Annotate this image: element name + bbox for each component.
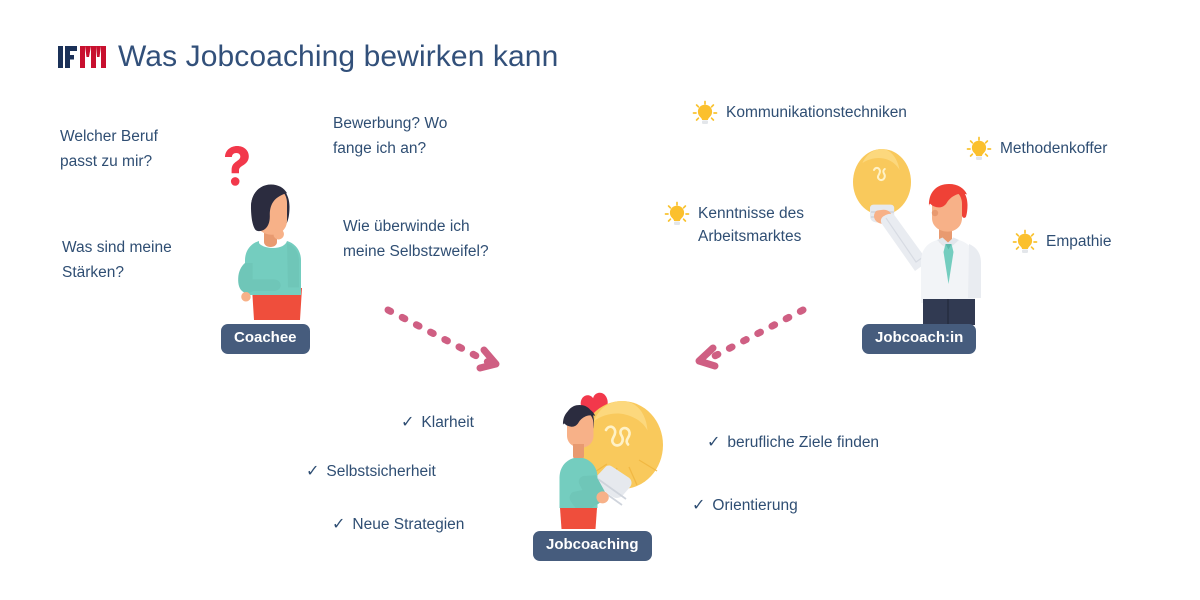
- check-icon: ✓: [692, 498, 705, 514]
- lightbulb-icon: [692, 100, 718, 126]
- outcome-label: Selbstsicherheit: [326, 463, 435, 481]
- skill-label: Empathie: [1046, 229, 1111, 253]
- outcome-selbstsicherheit: ✓ Selbstsicherheit: [306, 463, 436, 481]
- outcome-orientierung: ✓ Orientierung: [692, 497, 798, 515]
- jobcoaching-illustration: [543, 382, 673, 534]
- coachee-question-beruf: Welcher Beruf passt zu mir?: [60, 124, 158, 174]
- jobcoach-illustration: [840, 140, 990, 330]
- coachee-question-bewerbung: Bewerbung? Wo fange ich an?: [333, 111, 447, 161]
- skill-label: Methodenkoffer: [1000, 136, 1107, 160]
- jobcoach-skill-empathie: Empathie: [1012, 229, 1111, 255]
- coachee-question-selbstzweifel: Wie überwinde ich meine Selbstzweifel?: [343, 214, 489, 264]
- skill-label: Kommunikationstechniken: [726, 100, 907, 124]
- check-icon: ✓: [306, 464, 319, 480]
- lightbulb-icon: [664, 201, 690, 227]
- outcome-neue-strategien: ✓ Neue Strategien: [332, 516, 464, 534]
- check-icon: ✓: [707, 435, 720, 451]
- arrow-jobcoach-to-jobcoaching: [685, 300, 815, 380]
- check-icon: ✓: [401, 415, 414, 431]
- outcome-label: Neue Strategien: [352, 516, 464, 534]
- jobcoach-skill-kommunikation: Kommunikationstechniken: [692, 100, 907, 126]
- outcome-klarheit: ✓ Klarheit: [401, 414, 474, 432]
- coachee-question-staerken: Was sind meine Stärken?: [62, 235, 172, 285]
- ifm-logo: [58, 44, 108, 70]
- question-mark-icon: [225, 146, 249, 186]
- outcome-label: Klarheit: [421, 414, 474, 432]
- outcome-label: berufliche Ziele finden: [727, 434, 879, 452]
- outcome-label: Orientierung: [712, 497, 797, 515]
- jobcoach-skill-arbeitsmarkt: Kenntnisse des Arbeitsmarktes: [664, 201, 804, 248]
- check-icon: ✓: [332, 517, 345, 533]
- coachee-illustration: [207, 143, 332, 323]
- infographic-canvas: Was Jobcoaching bewirken kann Welcher Be…: [0, 0, 1200, 600]
- arrow-coachee-to-jobcoaching: [380, 300, 520, 385]
- jobcoach-badge: Jobcoach:in: [862, 324, 976, 354]
- jobcoaching-badge: Jobcoaching: [533, 531, 652, 561]
- outcome-berufliche-ziele: ✓ berufliche Ziele finden: [707, 434, 879, 452]
- page-title: Was Jobcoaching bewirken kann: [118, 40, 558, 74]
- skill-label: Kenntnisse des Arbeitsmarktes: [698, 201, 804, 248]
- coachee-badge: Coachee: [221, 324, 310, 354]
- lightbulb-icon: [1012, 229, 1038, 255]
